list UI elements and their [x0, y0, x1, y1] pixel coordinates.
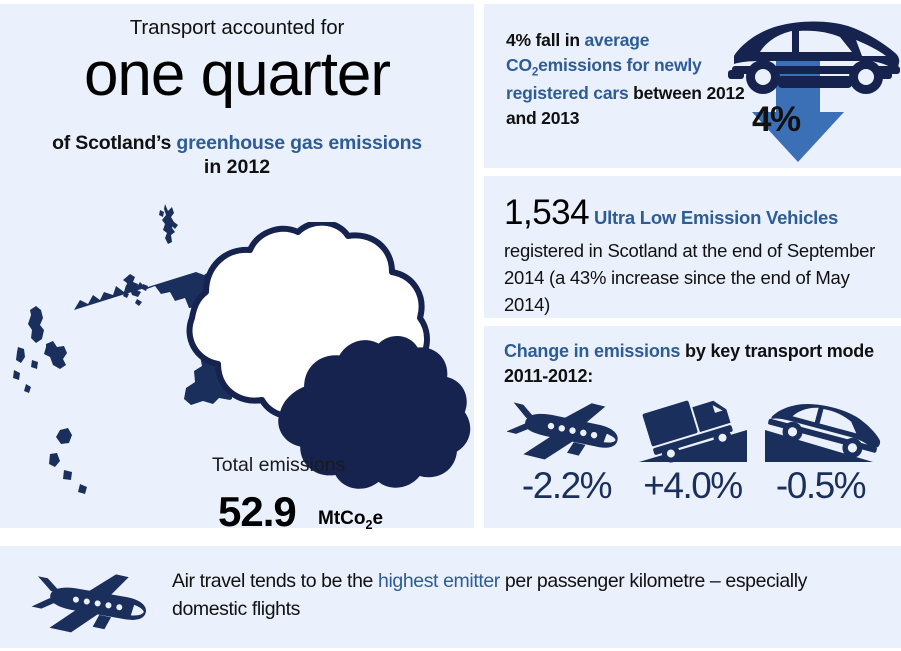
map-and-clouds: Total emissions 52.9 MtCo2e Transport em…	[0, 184, 474, 528]
panel-car-emissions: 4% fall in average CO2emissions for newl…	[484, 4, 901, 168]
change-title: Change in emissions by key transport mod…	[504, 339, 889, 389]
ulev-count: 1,534	[504, 193, 589, 232]
mode-column-cars: -0.5%	[754, 390, 887, 504]
emissions-clouds	[148, 222, 474, 528]
aviation-change-value: -2.2%	[500, 467, 633, 504]
car-descending-icon	[761, 390, 881, 466]
car-percentage-value: 4%	[752, 100, 800, 140]
truck-ascending-icon	[633, 390, 753, 466]
mode-column-aviation: -2.2%	[500, 390, 633, 504]
ulev-body-text: registered in Scotland at the end of Sep…	[504, 240, 875, 314]
panel-air-travel-banner: Air travel tends to be the highest emitt…	[0, 546, 901, 648]
heading-one-quarter: one quarter	[0, 44, 474, 106]
airplane-descending-icon	[507, 390, 627, 466]
banner-text-highlight: highest emitter	[378, 570, 500, 592]
heading-line-3-highlight: greenhouse gas emissions	[176, 132, 422, 154]
mode-column-freight: +4.0%	[626, 390, 759, 504]
change-title-highlight: Change in emissions	[504, 341, 680, 361]
heading-line-4: in 2012	[0, 156, 474, 179]
banner-text: Air travel tends to be the highest emitt…	[172, 568, 872, 623]
car-text-part1: 4% fall in	[506, 30, 585, 50]
ulev-text: 1,534 Ultra Low Emission Vehicles regist…	[504, 188, 894, 318]
airplane-icon	[30, 564, 155, 638]
car-icon	[716, 4, 901, 168]
heading-line-3: of Scotland’s greenhouse gas emissions	[0, 132, 474, 155]
panel-ulev: 1,534 Ultra Low Emission Vehicles regist…	[484, 176, 901, 318]
panel-change-in-emissions: Change in emissions by key transport mod…	[484, 326, 901, 528]
infographic-root: Transport accounted for one quarter of S…	[0, 0, 901, 651]
banner-text-part1: Air travel tends to be the	[172, 570, 378, 592]
freight-change-value: +4.0%	[626, 467, 759, 504]
heading-line-3-plain: of Scotland’s	[52, 132, 176, 154]
panel-transport-share: Transport accounted for one quarter of S…	[0, 4, 474, 528]
ulev-highlight: Ultra Low Emission Vehicles	[594, 207, 838, 228]
heading-line-1: Transport accounted for	[0, 16, 474, 40]
car-emissions-text: 4% fall in average CO2emissions for newl…	[506, 28, 746, 130]
cars-change-value: -0.5%	[754, 467, 887, 504]
